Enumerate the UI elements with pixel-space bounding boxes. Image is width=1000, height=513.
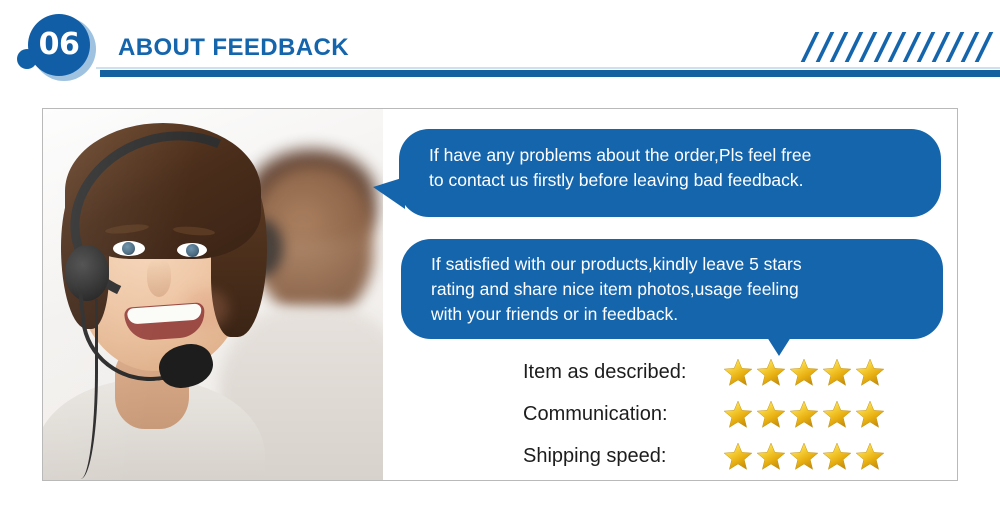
header-rule-light bbox=[96, 67, 1000, 69]
speech-bubble-1-line-1: If have any problems about the order,Pls… bbox=[429, 143, 915, 168]
star-icon bbox=[789, 399, 819, 429]
section-number-label: 06 bbox=[39, 30, 80, 60]
star-icon bbox=[756, 399, 786, 429]
star-icon bbox=[855, 357, 885, 387]
rating-row-shipping-speed: Shipping speed: bbox=[523, 435, 953, 477]
star-icon bbox=[756, 357, 786, 387]
star-icon bbox=[789, 441, 819, 471]
star-icon bbox=[723, 399, 753, 429]
page-header: 06 ABOUT FEEDBACK bbox=[0, 0, 1000, 95]
diagonal-slash-decoration-icon bbox=[800, 30, 1000, 64]
slash-icon bbox=[975, 32, 994, 62]
speech-bubble-1: If have any problems about the order,Pls… bbox=[399, 129, 941, 217]
rating-stars-shipping-speed bbox=[723, 441, 885, 471]
star-icon bbox=[855, 399, 885, 429]
rating-label-communication: Communication: bbox=[523, 403, 719, 426]
section-number-badge: 06 bbox=[28, 14, 90, 76]
ratings-list: Item as described: Communication: Shippi… bbox=[523, 351, 953, 477]
star-icon bbox=[723, 441, 753, 471]
star-icon bbox=[756, 441, 786, 471]
star-icon bbox=[855, 441, 885, 471]
speech-bubble-2-line-3: with your friends or in feedback. bbox=[431, 302, 919, 327]
star-icon bbox=[789, 357, 819, 387]
rating-label-shipping-speed: Shipping speed: bbox=[523, 445, 719, 468]
rating-stars-communication bbox=[723, 399, 885, 429]
rating-row-item-as-described: Item as described: bbox=[523, 351, 953, 393]
speech-bubble-1-line-2: to contact us firstly before leaving bad… bbox=[429, 168, 915, 193]
star-icon bbox=[723, 357, 753, 387]
header-rule-bold bbox=[100, 70, 1000, 77]
rating-row-communication: Communication: bbox=[523, 393, 953, 435]
star-icon bbox=[822, 357, 852, 387]
star-icon bbox=[822, 399, 852, 429]
speech-bubble-2-line-1: If satisfied with our products,kindly le… bbox=[431, 252, 919, 277]
page-title: ABOUT FEEDBACK bbox=[118, 34, 349, 62]
headset-agent-photo bbox=[43, 109, 383, 480]
star-icon bbox=[822, 441, 852, 471]
feedback-panel: If have any problems about the order,Pls… bbox=[42, 108, 958, 481]
rating-label-item-as-described: Item as described: bbox=[523, 361, 719, 384]
rating-stars-item-as-described bbox=[723, 357, 885, 387]
speech-bubble-2: If satisfied with our products,kindly le… bbox=[401, 239, 943, 339]
speech-bubble-2-line-2: rating and share nice item photos,usage … bbox=[431, 277, 919, 302]
